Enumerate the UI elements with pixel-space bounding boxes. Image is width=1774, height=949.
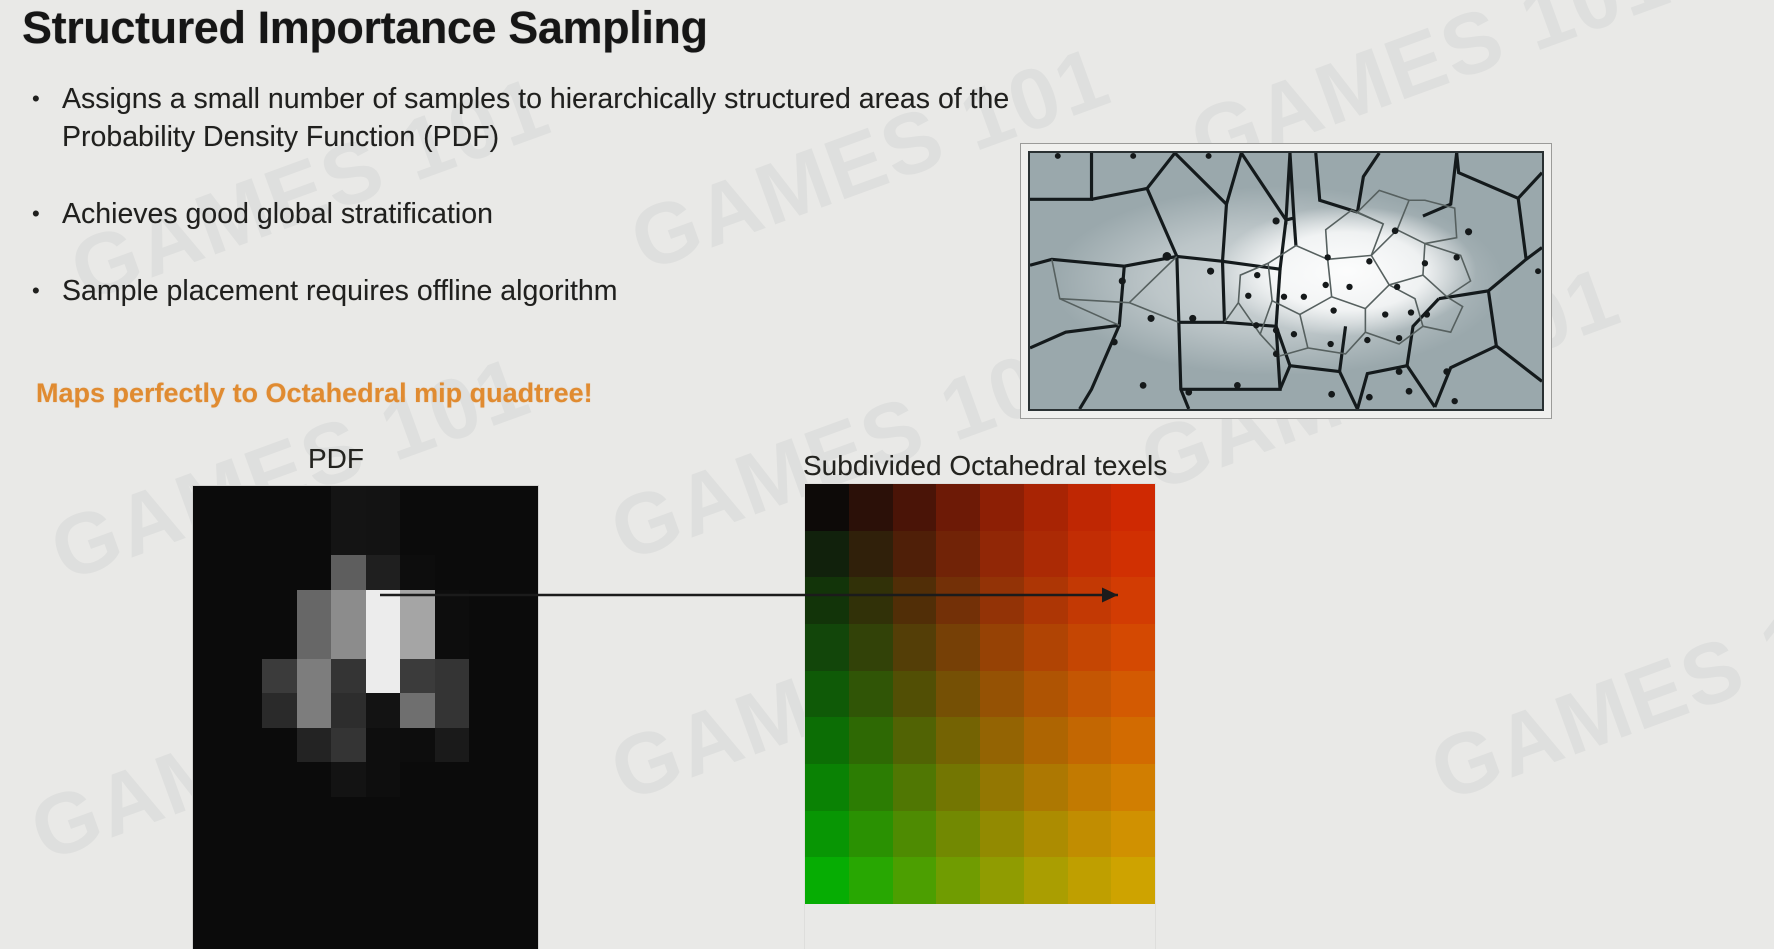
octahedral-texel-cell: [1024, 671, 1068, 718]
octahedral-texel-cell: [805, 764, 849, 811]
pdf-texel-cell: [366, 521, 401, 556]
bullet-text: Achieves good global stratification: [62, 195, 493, 233]
pdf-texel-cell: [331, 624, 366, 659]
octahedral-texel-cell: [1111, 484, 1155, 531]
bullet-marker-icon: •: [32, 272, 62, 310]
pdf-texel-cell: [262, 762, 297, 797]
octahedral-texel-cell: [1024, 577, 1068, 624]
bullet-marker-icon: •: [32, 80, 62, 118]
pdf-texel-cell: [193, 555, 228, 590]
octahedral-texel-cell: [1068, 484, 1112, 531]
pdf-texel-cell: [504, 555, 539, 590]
pdf-texel-cell: [297, 797, 332, 832]
pdf-texel-cell: [400, 693, 435, 728]
octahedral-texel-cell: [1111, 531, 1155, 578]
pdf-texel-cell: [331, 762, 366, 797]
pdf-texel-cell: [331, 659, 366, 694]
pdf-texel-cell: [297, 624, 332, 659]
pdf-texel-cell: [262, 624, 297, 659]
octahedral-texel-cell: [1111, 764, 1155, 811]
bullet-item: • Assigns a small number of samples to h…: [32, 80, 1072, 156]
octahedral-texel-cell: [1068, 671, 1112, 718]
octahedral-texel-cell: [1024, 811, 1068, 858]
octahedral-texel-cell: [1024, 717, 1068, 764]
pdf-texel-cell: [262, 659, 297, 694]
octahedral-texel-cell: [893, 577, 937, 624]
octahedral-texel-cell: [1068, 531, 1112, 578]
pdf-texel-cell: [469, 590, 504, 625]
octahedral-texel-cell: [893, 484, 937, 531]
octahedral-texel-cell: [849, 484, 893, 531]
voronoi-figure-frame: [1020, 143, 1552, 419]
pdf-texel-cell: [366, 797, 401, 832]
octahedral-texel-cell: [980, 717, 1024, 764]
octahedral-texel-cell: [980, 671, 1024, 718]
octahedral-texel-cell: [849, 717, 893, 764]
bullet-text: Assigns a small number of samples to hie…: [62, 80, 1072, 156]
pdf-texel-cell: [400, 762, 435, 797]
octahedral-caption: Subdivided Octahedral texels: [803, 450, 1167, 482]
slide-title: Structured Importance Sampling: [22, 2, 708, 54]
octahedral-texel-cell: [980, 811, 1024, 858]
octahedral-texel-cell: [980, 577, 1024, 624]
pdf-texel-cell: [228, 728, 263, 763]
octahedral-texel-cell: [849, 531, 893, 578]
octahedral-texel-cell: [1111, 857, 1155, 904]
octahedral-texel-cell: [980, 484, 1024, 531]
pdf-texel-cell: [297, 762, 332, 797]
octahedral-texel-cell: [893, 811, 937, 858]
octahedral-texel-cell: [936, 484, 980, 531]
pdf-texel-cell: [193, 693, 228, 728]
pdf-texel-cell: [228, 624, 263, 659]
pdf-texel-cell: [435, 728, 470, 763]
pdf-texel-cell: [297, 659, 332, 694]
pdf-texel-cell: [435, 521, 470, 556]
octahedral-texel-cell: [1111, 671, 1155, 718]
pdf-texel-cell: [366, 590, 401, 625]
pdf-texel-cell: [262, 521, 297, 556]
octahedral-texel-cell: [936, 764, 980, 811]
octahedral-texel-cell: [1024, 857, 1068, 904]
octahedral-texel-cell: [1111, 717, 1155, 764]
octahedral-texel-cell: [1111, 811, 1155, 858]
octahedral-texel-cell: [893, 531, 937, 578]
pdf-texel-cell: [262, 555, 297, 590]
octahedral-texel-cell: [980, 764, 1024, 811]
octahedral-texel-cell: [1024, 484, 1068, 531]
pdf-texel-cell: [331, 590, 366, 625]
pdf-texel-cell: [469, 693, 504, 728]
pdf-texel-cell: [469, 624, 504, 659]
pdf-texel-cell: [366, 624, 401, 659]
octahedral-texel-cell: [936, 577, 980, 624]
bullet-text: Sample placement requires offline algori…: [62, 272, 618, 310]
octahedral-texel-cell: [849, 577, 893, 624]
pdf-texel-cell: [435, 555, 470, 590]
pdf-texel-cell: [228, 693, 263, 728]
pdf-texel-cell: [366, 555, 401, 590]
octahedral-texel-cell: [980, 624, 1024, 671]
pdf-texel-cell: [193, 624, 228, 659]
octahedral-texel-cell: [805, 811, 849, 858]
pdf-texel-cell: [297, 486, 332, 521]
pdf-texel-cell: [228, 521, 263, 556]
pdf-texel-cell: [400, 624, 435, 659]
pdf-texel-cell: [262, 590, 297, 625]
pdf-texel-cell: [193, 590, 228, 625]
octahedral-texel-cell: [936, 531, 980, 578]
pdf-caption: PDF: [308, 443, 364, 475]
octahedral-texel-cell: [1068, 577, 1112, 624]
pdf-texel-cell: [504, 797, 539, 832]
pdf-texel-cell: [435, 486, 470, 521]
octahedral-texel-cell: [805, 671, 849, 718]
pdf-texel-cell: [331, 555, 366, 590]
pdf-texel-cell: [504, 486, 539, 521]
octahedral-texel-cell: [893, 717, 937, 764]
watermark-text: GAMES 101: [1418, 557, 1774, 821]
voronoi-svg: [1030, 153, 1542, 409]
pdf-texel-cell: [228, 762, 263, 797]
bullet-marker-icon: •: [32, 195, 62, 233]
pdf-texel-cell: [297, 728, 332, 763]
octahedral-texel-cell: [1068, 857, 1112, 904]
octahedral-texel-cell: [805, 577, 849, 624]
pdf-texel-cell: [193, 659, 228, 694]
octahedral-texel-cell: [805, 857, 849, 904]
pdf-texel-cell: [228, 590, 263, 625]
pdf-texel-cell: [193, 762, 228, 797]
octahedral-texel-cell: [1068, 717, 1112, 764]
pdf-texel-cell: [193, 728, 228, 763]
pdf-texel-cell: [193, 486, 228, 521]
pdf-texel-cell: [366, 659, 401, 694]
bullet-item: • Achieves good global stratification: [32, 195, 493, 233]
pdf-texel-cell: [469, 555, 504, 590]
pdf-texel-cell: [504, 693, 539, 728]
octahedral-texel-cell: [849, 671, 893, 718]
octahedral-texel-cell: [805, 484, 849, 531]
pdf-texel-cell: [366, 486, 401, 521]
pdf-texel-cell: [262, 728, 297, 763]
octahedral-texel-cell: [936, 624, 980, 671]
pdf-texel-cell: [400, 797, 435, 832]
pdf-texel-cell: [366, 728, 401, 763]
voronoi-stratification-diagram: [1028, 151, 1544, 411]
pdf-texel-cell: [193, 521, 228, 556]
pdf-texel-cell: [435, 762, 470, 797]
pdf-texture-image: [193, 486, 538, 949]
octahedral-texel-cell: [849, 624, 893, 671]
octahedral-texel-cell: [849, 764, 893, 811]
octahedral-texel-cell: [805, 717, 849, 764]
octahedral-texel-cell: [893, 857, 937, 904]
pdf-texel-cell: [469, 521, 504, 556]
octahedral-texel-cell: [849, 811, 893, 858]
pdf-texel-cell: [469, 486, 504, 521]
octahedral-texel-cell: [1068, 624, 1112, 671]
octahedral-texel-cell: [936, 857, 980, 904]
pdf-texel-cell: [228, 486, 263, 521]
pdf-texel-cell: [366, 693, 401, 728]
octahedral-texel-cell: [1111, 577, 1155, 624]
octahedral-texel-cell: [1111, 624, 1155, 671]
pdf-texel-cell: [504, 659, 539, 694]
pdf-texel-cell: [331, 521, 366, 556]
pdf-texel-cell: [400, 590, 435, 625]
pdf-texel-cell: [469, 659, 504, 694]
pdf-texel-cell: [400, 728, 435, 763]
pdf-texel-cell: [228, 659, 263, 694]
octahedral-texel-cell: [1024, 624, 1068, 671]
pdf-texel-cell: [297, 693, 332, 728]
pdf-texel-cell: [504, 728, 539, 763]
pdf-texel-cell: [504, 590, 539, 625]
pdf-texel-cell: [262, 486, 297, 521]
pdf-texel-cell: [262, 797, 297, 832]
pdf-texel-cell: [435, 797, 470, 832]
pdf-texel-cell: [228, 555, 263, 590]
pdf-texel-cell: [504, 624, 539, 659]
slide-root: GAMES 101 GAMES 101 GAMES 101 GAMES 101 …: [0, 0, 1774, 949]
pdf-texel-cell: [400, 555, 435, 590]
octahedral-texel-cell: [936, 717, 980, 764]
octahedral-texel-cell: [936, 671, 980, 718]
pdf-texel-cell: [193, 797, 228, 832]
pdf-texel-cell: [435, 590, 470, 625]
octahedral-texel-cell: [1068, 764, 1112, 811]
octahedral-texel-cell: [893, 624, 937, 671]
pdf-texel-cell: [435, 693, 470, 728]
octahedral-texel-cell: [805, 531, 849, 578]
octahedral-texel-cell: [893, 764, 937, 811]
pdf-texel-cell: [469, 728, 504, 763]
highlight-text: Maps perfectly to Octahedral mip quadtre…: [36, 378, 593, 409]
octahedral-texture-image: [805, 484, 1155, 949]
pdf-texel-cell: [504, 762, 539, 797]
pdf-texel-cell: [331, 486, 366, 521]
octahedral-texel-cell: [849, 857, 893, 904]
octahedral-texel-cell: [936, 811, 980, 858]
bullet-item: • Sample placement requires offline algo…: [32, 272, 618, 310]
pdf-texel-cell: [366, 762, 401, 797]
pdf-texel-cell: [400, 659, 435, 694]
pdf-texel-cell: [400, 521, 435, 556]
pdf-texel-cell: [262, 693, 297, 728]
octahedral-texel-cell: [980, 531, 1024, 578]
pdf-texel-cell: [297, 521, 332, 556]
octahedral-texel-grid: [805, 484, 1155, 904]
pdf-texel-grid: [193, 486, 538, 831]
pdf-texel-cell: [331, 728, 366, 763]
pdf-texel-cell: [469, 797, 504, 832]
pdf-texel-cell: [331, 797, 366, 832]
octahedral-texel-cell: [1068, 811, 1112, 858]
pdf-texel-cell: [435, 624, 470, 659]
octahedral-texel-cell: [805, 624, 849, 671]
pdf-texel-cell: [435, 659, 470, 694]
pdf-texel-cell: [469, 762, 504, 797]
octahedral-texel-cell: [980, 857, 1024, 904]
pdf-texel-cell: [331, 693, 366, 728]
pdf-texel-cell: [297, 555, 332, 590]
pdf-texel-cell: [297, 590, 332, 625]
pdf-texel-cell: [504, 521, 539, 556]
octahedral-texel-cell: [1024, 764, 1068, 811]
pdf-texel-cell: [400, 486, 435, 521]
pdf-texel-cell: [228, 797, 263, 832]
octahedral-texel-cell: [1024, 531, 1068, 578]
octahedral-texel-cell: [893, 671, 937, 718]
